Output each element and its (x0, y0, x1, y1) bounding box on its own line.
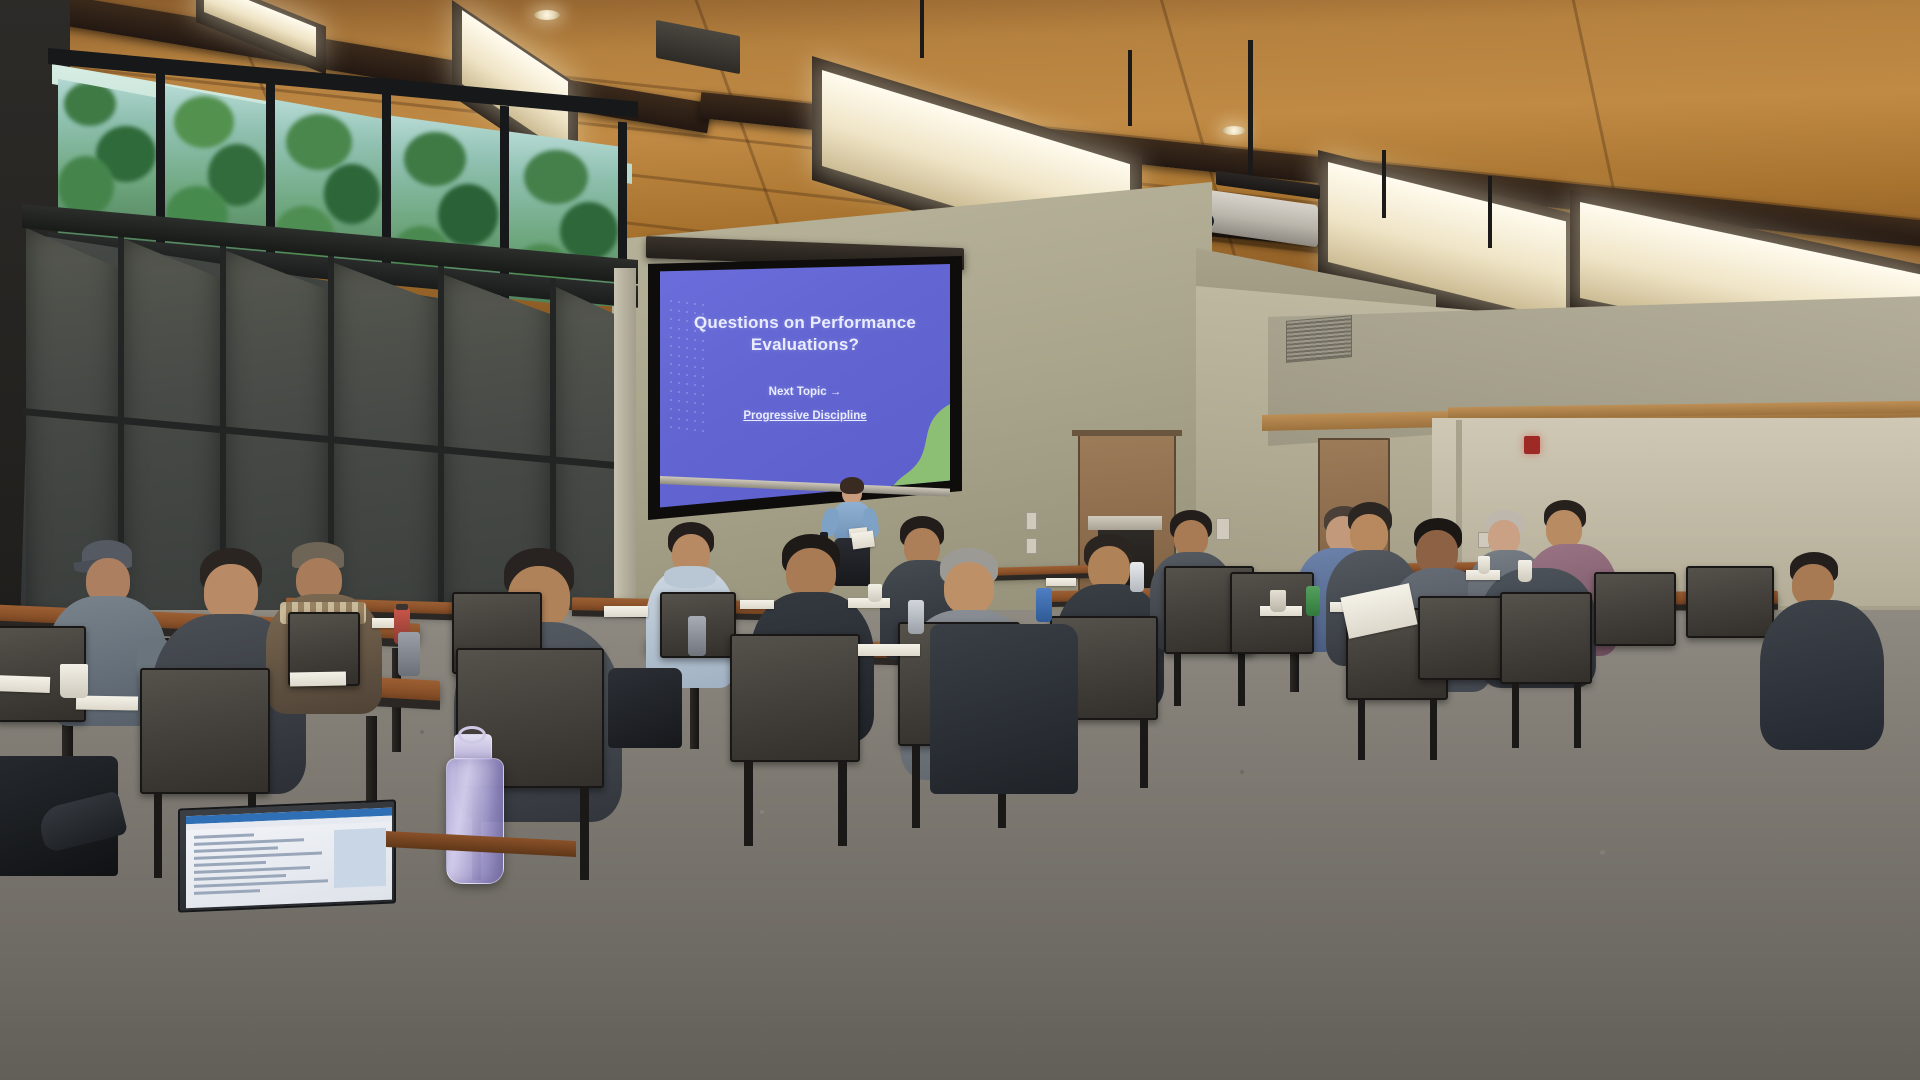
laptop-screen (186, 808, 392, 909)
paper-14 (851, 531, 875, 550)
attendee-15-head (1546, 510, 1582, 548)
attendee-6-head (786, 548, 836, 598)
paper-5 (604, 606, 648, 617)
hvac-vent (1286, 315, 1352, 363)
cup-5 (1478, 556, 1490, 574)
chair-13[interactable] (1418, 596, 1510, 734)
slide-next-topic-label: Next Topic → (660, 384, 950, 401)
cup-3 (1270, 590, 1286, 612)
bottle-carry-loop (458, 726, 486, 744)
slide-title-line-1: Questions on Performance (660, 312, 950, 334)
presentation-slide: Questions on Performance Evaluations? Ne… (660, 264, 950, 510)
paper-1 (0, 675, 50, 693)
meeting-room-photo: Questions on Performance Evaluations? Ne… (0, 0, 1920, 1080)
attendee-17-torso (1760, 600, 1884, 750)
bottle-2 (398, 632, 420, 676)
chair-14[interactable] (1500, 592, 1594, 748)
wall-plate-1 (1026, 512, 1037, 530)
attendee-12-head (1350, 514, 1388, 554)
cup-1 (60, 664, 88, 698)
bottle-7 (1306, 586, 1320, 616)
projection-screen-assembly: Questions on Performance Evaluations? Ne… (646, 236, 966, 496)
purple-water-bottle[interactable] (436, 726, 514, 884)
paper-8 (858, 644, 920, 656)
bottle-5 (1036, 588, 1052, 622)
chair-15[interactable] (1594, 572, 1678, 692)
slide-title: Questions on Performance Evaluations? (660, 312, 950, 357)
door-left-frame (1072, 430, 1182, 436)
chair-7[interactable] (730, 634, 862, 846)
jacket-on-chair (930, 624, 1078, 794)
bottle-1-cap (396, 604, 408, 610)
open-laptop-foreground[interactable] (178, 804, 400, 914)
slide-next-topic-link[interactable]: Progressive Discipline (743, 410, 866, 422)
attendee-5-hood (664, 566, 716, 588)
slide-title-line-2: Evaluations? (660, 334, 950, 356)
cup-2 (868, 584, 882, 602)
bottle-4 (908, 600, 924, 634)
exit-sign (1524, 436, 1540, 454)
attendee-17 (1760, 552, 1890, 772)
presenter-hair (840, 477, 864, 494)
paper-13 (1046, 578, 1076, 586)
paper-2 (76, 695, 138, 710)
slide-next-topic-link-wrap: Progressive Discipline (660, 406, 950, 424)
cup-4 (1518, 560, 1532, 582)
backpack (608, 668, 682, 748)
bottle-6 (1130, 562, 1144, 592)
paper-3 (290, 672, 346, 687)
paper-6 (740, 600, 774, 609)
attendee-8-head (944, 562, 994, 614)
attendee-10-head (1174, 520, 1208, 556)
bottle-body (446, 758, 504, 884)
bottle-3 (688, 616, 706, 656)
attendee-2-head (204, 564, 258, 620)
